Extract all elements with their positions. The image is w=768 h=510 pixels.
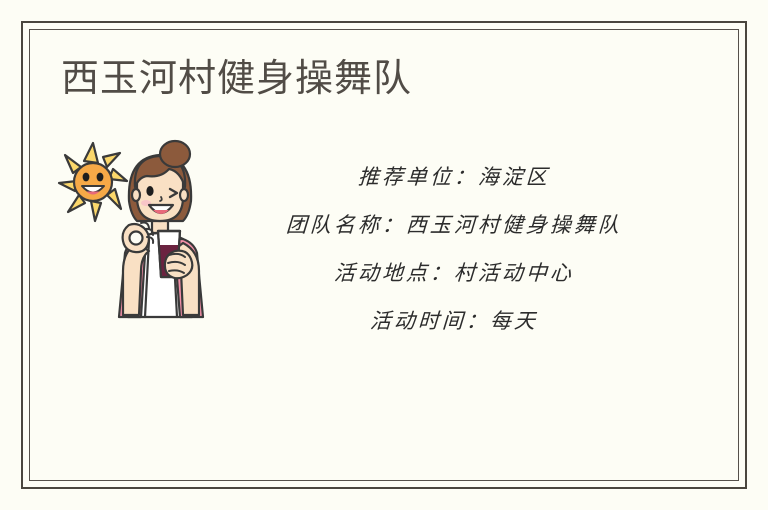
- info-line-team-name: 团队名称：西玉河村健身操舞队: [227, 201, 682, 249]
- content-row: 推荐单位：海淀区 团队名称：西玉河村健身操舞队 活动地点：村活动中心 活动时间：…: [23, 131, 745, 361]
- page-title: 西玉河村健身操舞队: [61, 58, 412, 102]
- poster-frame: 西玉河村健身操舞队: [21, 21, 747, 489]
- info-line-recommending-unit: 推荐单位：海淀区: [227, 153, 682, 201]
- woman-figure: [119, 141, 203, 317]
- woman-with-juice-and-sun-illustration: [57, 139, 227, 319]
- info-line-activity-time: 活动时间：每天: [227, 297, 682, 345]
- sun-icon: [59, 143, 127, 221]
- info-block: 推荐单位：海淀区 团队名称：西玉河村健身操舞队 活动地点：村活动中心 活动时间：…: [228, 153, 680, 345]
- info-line-activity-location: 活动地点：村活动中心: [227, 249, 682, 297]
